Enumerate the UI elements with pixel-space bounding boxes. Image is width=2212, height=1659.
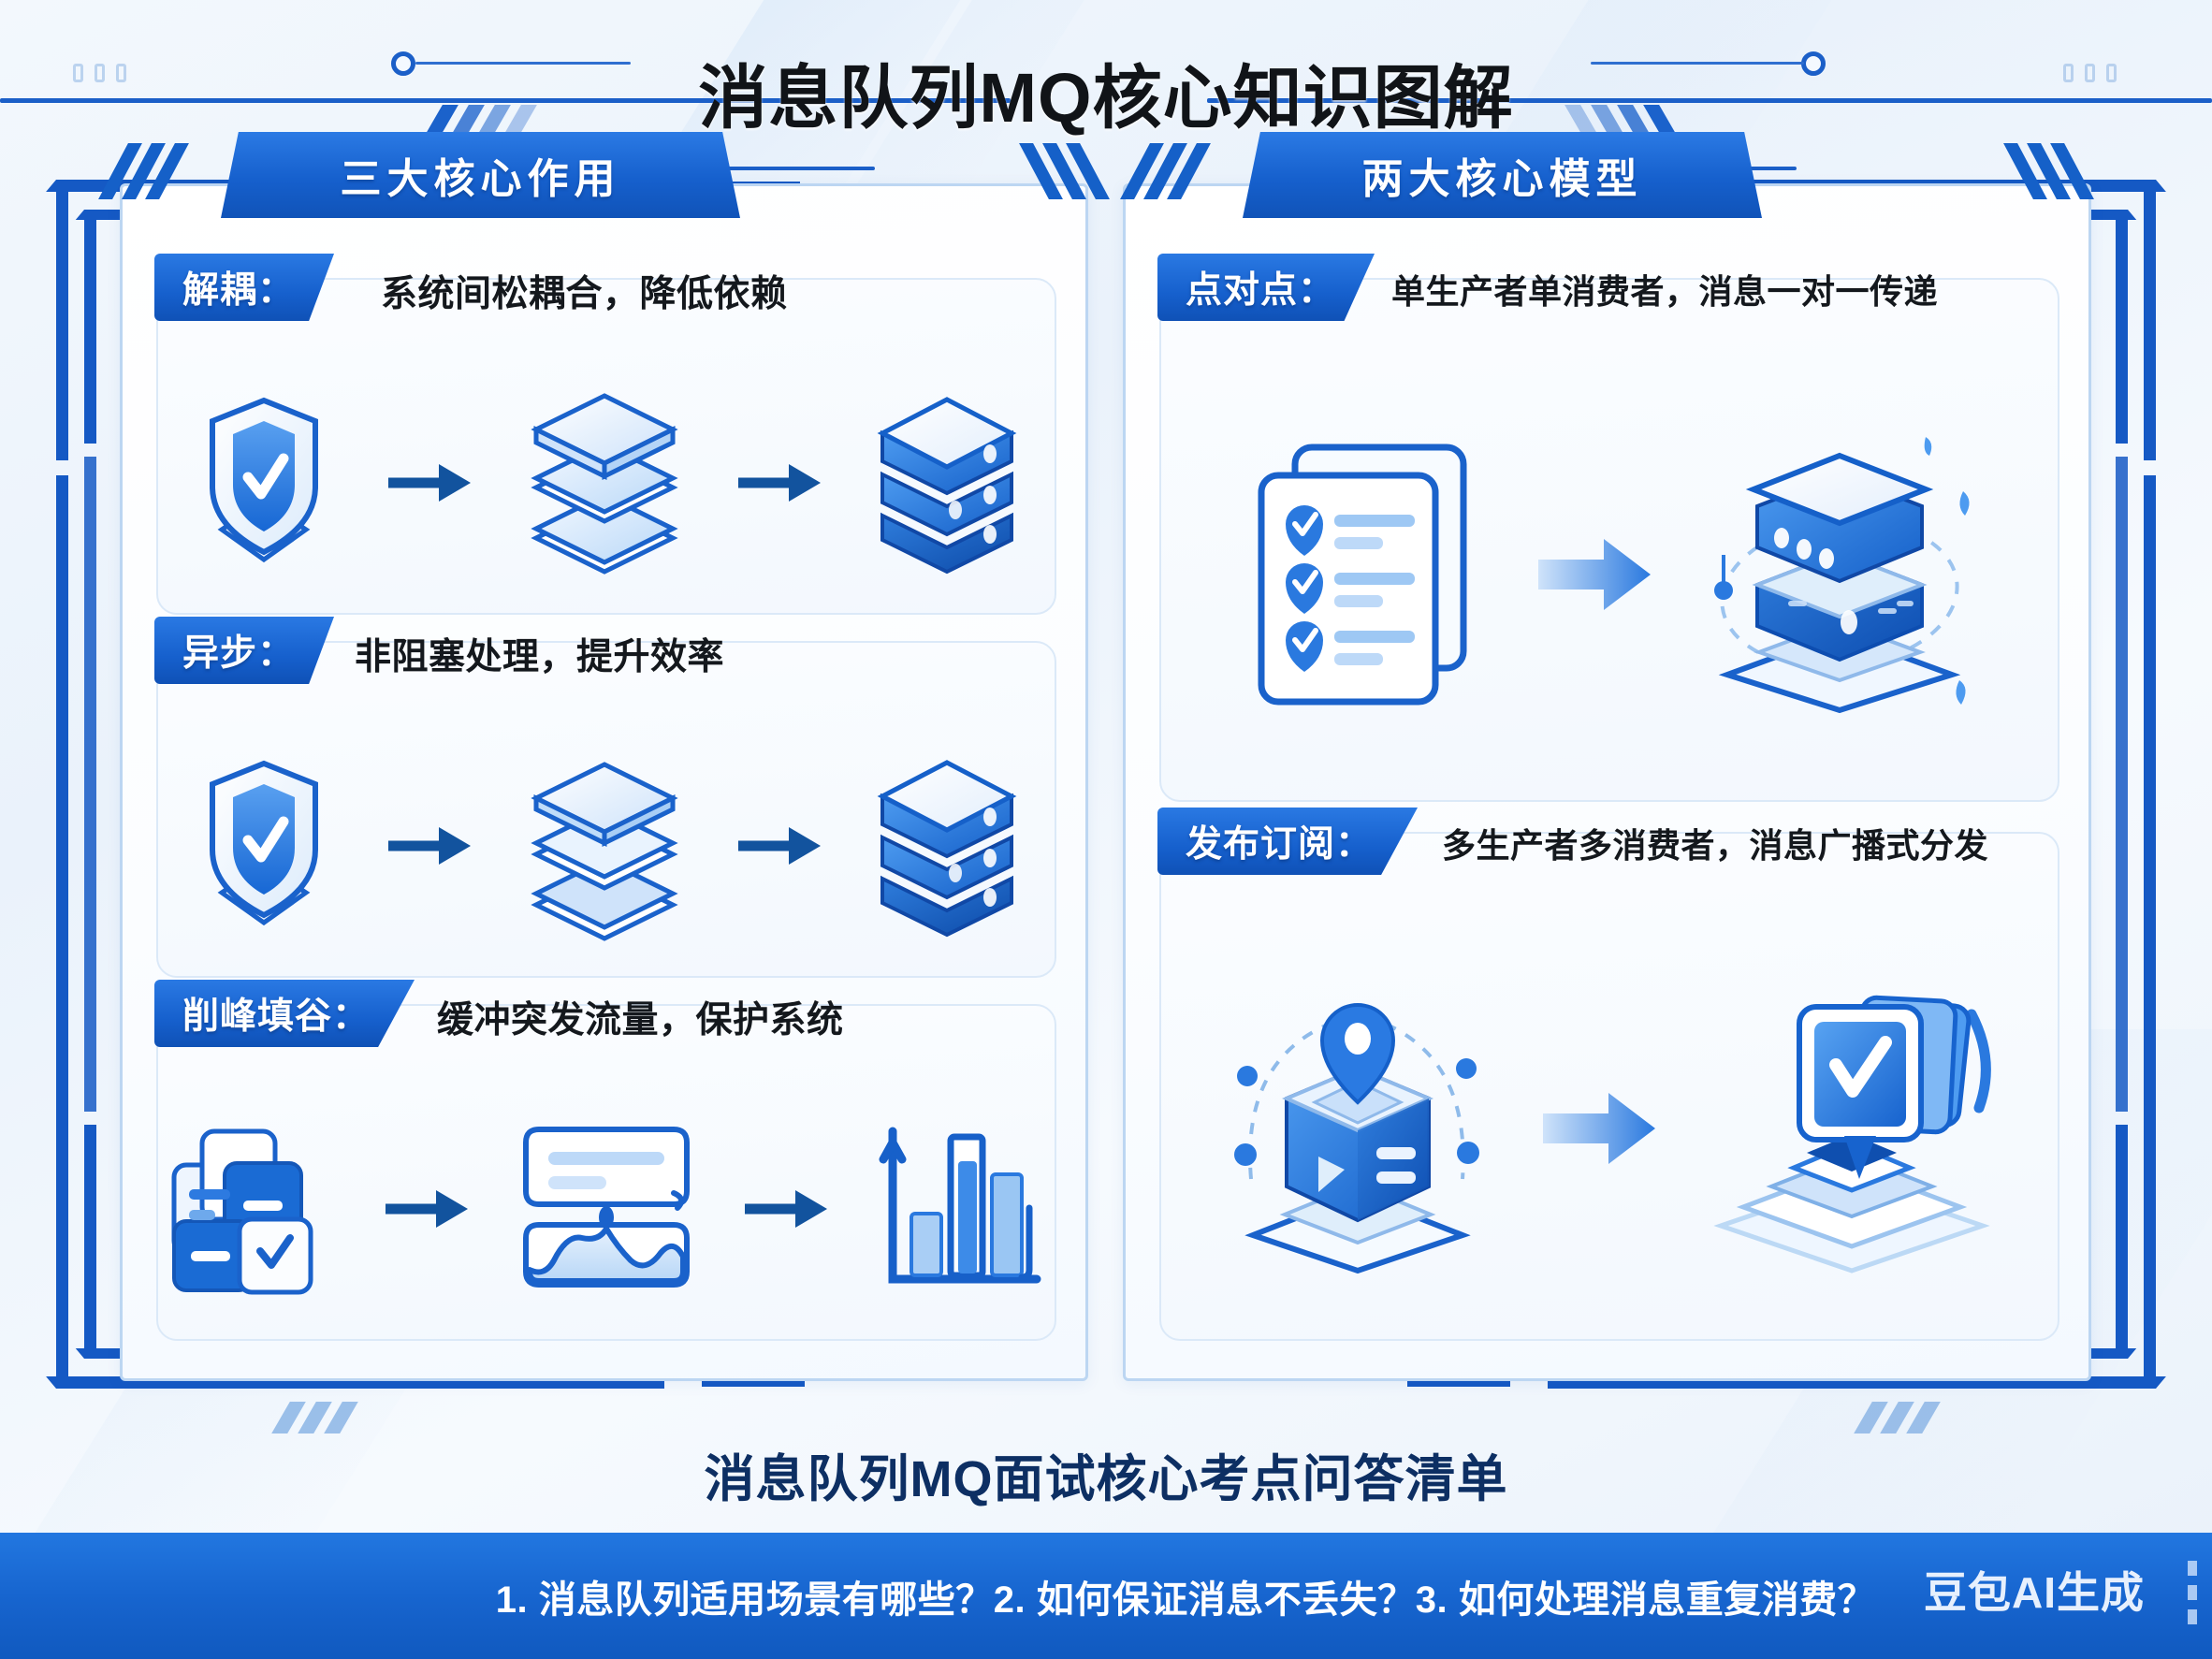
card-async: 异步： 非阻塞处理，提升效率 bbox=[156, 641, 1056, 978]
footer-questions: 1. 消息队列适用场景有哪些？2. 如何保证消息不丢失？3. 如何处理消息重复消… bbox=[0, 1569, 2212, 1623]
banner-wing-right bbox=[1034, 143, 1095, 199]
illustration-publish-subscribe bbox=[1161, 974, 2058, 1283]
arrow-right-icon bbox=[385, 820, 474, 872]
arrow-right-icon bbox=[735, 457, 824, 509]
shield-check-icon bbox=[184, 752, 343, 939]
bar-chart-icon bbox=[872, 1118, 1050, 1301]
title-container: 消息队列MQ核心知识图解 bbox=[0, 36, 2212, 148]
publisher-tower-icon bbox=[1217, 979, 1498, 1278]
card-tiles-icon bbox=[163, 1120, 341, 1298]
panel-right-heading: 两大核心模型 bbox=[1243, 132, 1762, 218]
card-publish-subscribe-desc: 多生产者多消费者，消息广播式分发 bbox=[1442, 819, 1988, 867]
panel-right-heading-text: 两大核心模型 bbox=[1362, 145, 1643, 205]
illustration-async bbox=[158, 729, 1055, 963]
buffer-wave-icon bbox=[513, 1120, 700, 1298]
shield-check-icon bbox=[184, 389, 343, 576]
frame-edge-inner bbox=[2116, 457, 2128, 1112]
arrow-right-icon bbox=[382, 1183, 472, 1235]
database-stack-icon bbox=[866, 385, 1029, 581]
card-decoupling-tag: 解耦： bbox=[154, 254, 334, 321]
card-decoupling: 解耦： 系统间松耦合，降低依赖 bbox=[156, 278, 1056, 615]
footer-bar: 1. 消息队列适用场景有哪些？2. 如何保证消息不丢失？3. 如何处理消息重复消… bbox=[0, 1533, 2212, 1659]
panel-core-models: 两大核心模型 点对点： 单生产者单消费者，消息一对一传递 bbox=[1123, 183, 2091, 1381]
card-publish-subscribe-label: 发布订阅： bbox=[1186, 815, 1373, 867]
panel-core-functions: 三大核心作用 解耦： 系统间松耦合，降低依赖 bbox=[120, 183, 1088, 1381]
arrow-right-icon bbox=[1535, 528, 1656, 621]
illustration-point-to-point bbox=[1161, 420, 2058, 729]
card-peak-shaving: 削峰填谷： 缓冲突发流量，保护系统 bbox=[156, 1004, 1056, 1341]
footer-subtitle: 消息队列MQ面试核心考点问答清单 bbox=[0, 1437, 2212, 1511]
banner-wing-left bbox=[113, 143, 174, 199]
page-title: 消息队列MQ核心知识图解 bbox=[698, 42, 1513, 142]
database-stack-icon bbox=[866, 748, 1029, 944]
illustration-peak-shaving bbox=[158, 1092, 1055, 1326]
frame-edge bbox=[56, 475, 68, 1112]
banner-wing-right bbox=[2018, 143, 2079, 199]
footer-ticks bbox=[2188, 1561, 2197, 1624]
card-publish-subscribe-tag: 发布订阅： bbox=[1157, 808, 1418, 875]
frame-slashes-bottom-left bbox=[281, 1402, 349, 1433]
arrow-right-icon bbox=[741, 1183, 831, 1235]
layer-stack-icon bbox=[516, 748, 693, 944]
checklist-docs-icon bbox=[1241, 434, 1493, 715]
watermark: 豆包AI生成 bbox=[1924, 1559, 2145, 1621]
card-peak-shaving-label: 削峰填谷： bbox=[182, 987, 370, 1040]
server-cube-icon bbox=[1697, 429, 1978, 720]
card-async-desc: 非阻塞处理，提升效率 bbox=[355, 628, 724, 680]
card-point-to-point: 点对点： 单生产者单消费者，消息一对一传递 bbox=[1159, 278, 2059, 802]
arrow-right-icon bbox=[385, 457, 474, 509]
card-decoupling-desc: 系统间松耦合，降低依赖 bbox=[381, 265, 788, 317]
illustration-decoupling bbox=[158, 366, 1055, 600]
frame-slashes-bottom-right bbox=[1863, 1402, 1931, 1433]
subscriber-screens-icon bbox=[1702, 979, 2001, 1278]
card-async-label: 异步： bbox=[182, 624, 295, 677]
card-peak-shaving-tag: 削峰填谷： bbox=[154, 980, 415, 1047]
arrow-right-icon bbox=[1539, 1082, 1661, 1175]
card-async-tag: 异步： bbox=[154, 617, 334, 684]
infographic-poster: 消息队列MQ核心知识图解 bbox=[0, 0, 2212, 1659]
arrow-right-icon bbox=[735, 820, 824, 872]
banner-wing-left bbox=[1135, 143, 1196, 199]
panel-left-heading: 三大核心作用 bbox=[221, 132, 740, 218]
card-decoupling-label: 解耦： bbox=[182, 261, 295, 313]
layer-stack-icon bbox=[516, 385, 693, 581]
frame-edge bbox=[2144, 475, 2156, 1112]
card-point-to-point-tag: 点对点： bbox=[1157, 254, 1375, 321]
frame-edge-inner bbox=[84, 457, 96, 1112]
card-peak-shaving-desc: 缓冲突发流量，保护系统 bbox=[437, 991, 844, 1043]
card-publish-subscribe: 发布订阅： 多生产者多消费者，消息广播式分发 bbox=[1159, 832, 2059, 1341]
card-point-to-point-label: 点对点： bbox=[1186, 261, 1335, 313]
panel-left-heading-text: 三大核心作用 bbox=[341, 145, 621, 205]
card-point-to-point-desc: 单生产者单消费者，消息一对一传递 bbox=[1391, 265, 1938, 313]
